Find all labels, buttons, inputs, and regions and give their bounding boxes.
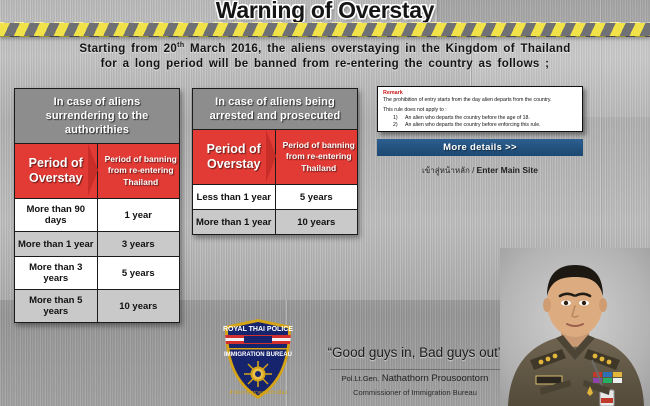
remark-exception-1-text: An alien who departs the country before … bbox=[405, 115, 530, 123]
badge-emblem-icon bbox=[244, 361, 272, 387]
cell-ban: 5 years bbox=[275, 185, 358, 210]
col-header-period: Period of Overstay bbox=[15, 144, 98, 199]
table-row: More than 90 days 1 year bbox=[15, 199, 180, 232]
badge-mid-text: IMMIGRATION BUREAU bbox=[224, 352, 292, 358]
remark-exception-2-text: An alien who departs the country before … bbox=[405, 122, 541, 130]
commissioner-name: Pol.Lt.Gen. Nathathorn Prousoontorn bbox=[300, 373, 530, 384]
remark-title: Remark bbox=[383, 90, 577, 97]
overstay-table-surrender: In case of aliens surrendering to the au… bbox=[14, 88, 180, 323]
intro-line-1-part-b: March 2016, the aliens overstaying in th… bbox=[184, 43, 570, 55]
intro-line-1-part-a: Starting from 20 bbox=[79, 43, 177, 55]
overstay-warning-page: Warning of Overstay Starting from 20th M… bbox=[0, 0, 650, 406]
intro-line-2: for a long period will be banned from re… bbox=[0, 57, 650, 72]
cell-ban: 5 years bbox=[97, 257, 180, 290]
table-row: More than 1 year 3 years bbox=[15, 232, 180, 257]
table-header-row: Period of Overstay Period of banning fro… bbox=[193, 130, 358, 185]
table-caption: In case of aliens surrendering to the au… bbox=[15, 89, 180, 144]
table-row: Less than 1 year 5 years bbox=[193, 185, 358, 210]
remark-exception-2-number: 2) bbox=[393, 122, 401, 130]
enter-main-site-label-th: เข้าสู่หน้าหลัก / bbox=[422, 166, 474, 175]
intro-text: Starting from 20th March 2016, the alien… bbox=[0, 38, 650, 72]
cell-period: Less than 1 year bbox=[193, 185, 276, 210]
cell-ban: 10 years bbox=[97, 290, 180, 323]
cell-ban: 3 years bbox=[97, 232, 180, 257]
table-row: More than 5 years 10 years bbox=[15, 290, 180, 323]
remark-exception-1-number: 1) bbox=[393, 115, 401, 123]
cell-period: More than 1 year bbox=[15, 232, 98, 257]
badge-bottom-text: สำนักงานตรวจคนเข้าเมือง bbox=[229, 389, 287, 396]
cell-ban: 10 years bbox=[275, 210, 358, 235]
col-header-ban: Period of banning from re-entering Thail… bbox=[97, 144, 180, 199]
table-caption-row: In case of aliens surrendering to the au… bbox=[15, 89, 180, 144]
cell-period: More than 5 years bbox=[15, 290, 98, 323]
hazard-stripe-band bbox=[0, 22, 650, 37]
table-caption: In case of aliens being arrested and pro… bbox=[193, 89, 358, 130]
col-header-period: Period of Overstay bbox=[193, 130, 276, 185]
cell-period: More than 1 year bbox=[193, 210, 276, 235]
enter-main-site-link[interactable]: เข้าสู่หน้าหลัก / Enter Main Site bbox=[377, 164, 583, 177]
page-title: Warning of Overstay bbox=[0, 0, 650, 23]
cell-period: More than 90 days bbox=[15, 199, 98, 232]
more-details-button[interactable]: More details >> bbox=[377, 139, 583, 156]
commissioner-role: Commissioner of Immigration Bureau bbox=[300, 388, 530, 397]
remark-box: Remark The prohibition of entry starts f… bbox=[377, 86, 583, 132]
remark-exception-2: 2) An alien who departs the country befo… bbox=[383, 122, 577, 130]
remark-line-1: The prohibition of entry starts from the… bbox=[383, 97, 577, 104]
table-row: More than 1 year 10 years bbox=[193, 210, 358, 235]
commissioner-rank: Pol.Lt.Gen. bbox=[342, 374, 380, 383]
motto-quote: “Good guys in, Bad guys out” bbox=[300, 345, 530, 360]
royal-thai-police-badge-icon: ROYAL THAI POLICE IMMIGRATION BUREAU สำน… bbox=[222, 317, 294, 401]
col-header-ban: Period of banning from re-entering Thail… bbox=[275, 130, 358, 185]
commissioner-portrait bbox=[500, 248, 650, 406]
cell-ban: 1 year bbox=[97, 199, 180, 232]
cell-period: More than 3 years bbox=[15, 257, 98, 290]
commissioner-fullname: Nathathorn Prousoontorn bbox=[382, 373, 489, 384]
table-header-row: Period of Overstay Period of banning fro… bbox=[15, 144, 180, 199]
remark-exception-1: 1) An alien who departs the country befo… bbox=[383, 115, 577, 123]
intro-line-1: Starting from 20th March 2016, the alien… bbox=[0, 38, 650, 57]
badge-top-text: ROYAL THAI POLICE bbox=[223, 326, 293, 333]
remark-line-2: This rule does not apply to : bbox=[383, 107, 577, 114]
divider bbox=[330, 369, 502, 370]
enter-main-site-label-en: Enter Main Site bbox=[477, 165, 538, 175]
overstay-table-arrested: In case of aliens being arrested and pro… bbox=[192, 88, 358, 235]
table-caption-row: In case of aliens being arrested and pro… bbox=[193, 89, 358, 130]
table-row: More than 3 years 5 years bbox=[15, 257, 180, 290]
